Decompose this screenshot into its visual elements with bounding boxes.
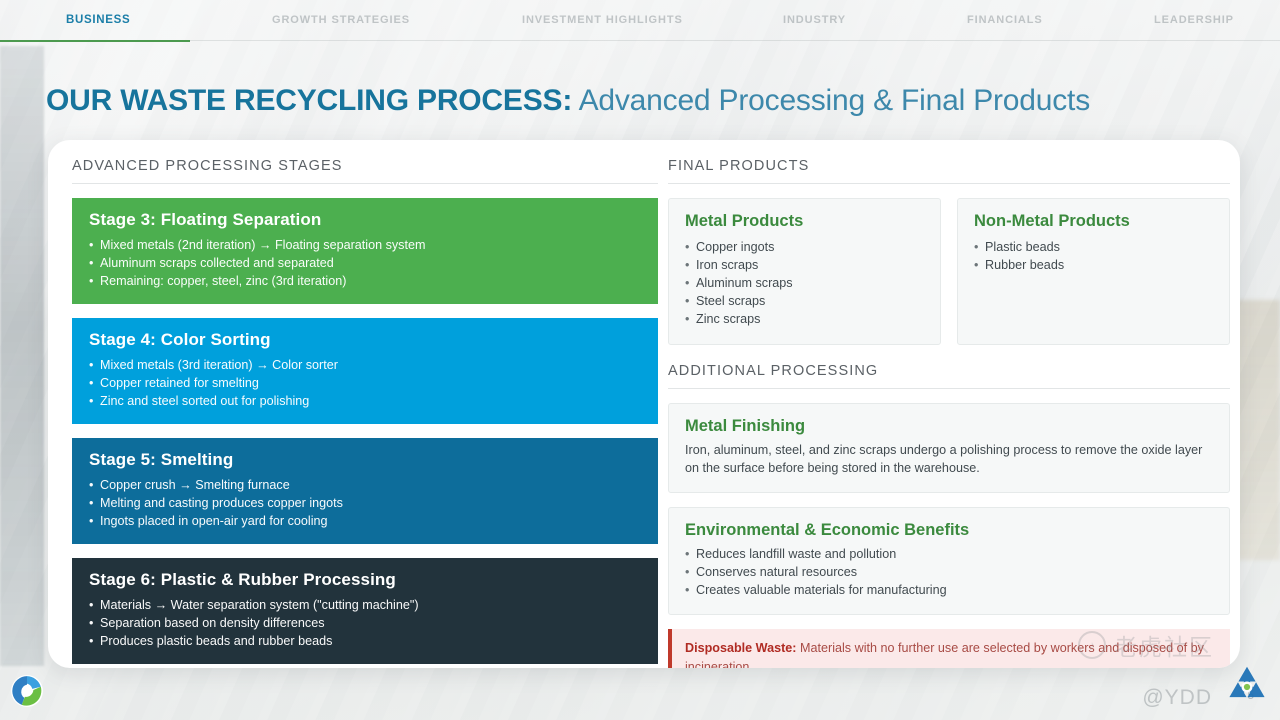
page-title: OUR WASTE RECYCLING PROCESS: Advanced Pr… xyxy=(46,84,1090,118)
slide: BUSINESS GROWTH STRATEGIES INVESTMENT HI… xyxy=(0,0,1280,720)
advanced-processing-column: ADVANCED PROCESSING STAGES Stage 3: Floa… xyxy=(72,158,658,664)
recycle-triangle-icon xyxy=(1222,662,1272,712)
recycle-logo-icon xyxy=(10,674,44,708)
metal-finishing-title: Metal Finishing xyxy=(685,417,1213,436)
list-item: Produces plastic beads and rubber beads xyxy=(89,632,641,650)
list-item: Remaining: copper, steel, zinc (3rd iter… xyxy=(89,272,641,290)
list-item: Ingots placed in open-air yard for cooli… xyxy=(89,512,641,530)
list-item: Conserves natural resources xyxy=(685,563,1213,581)
list-item: Iron scraps xyxy=(685,256,924,274)
section-label-additional-processing: ADDITIONAL PROCESSING xyxy=(668,363,1230,389)
nav-divider xyxy=(190,40,1280,41)
stage-card-6-title: Stage 6: Plastic & Rubber Processing xyxy=(89,570,641,590)
stage-card-5-title: Stage 5: Smelting xyxy=(89,450,641,470)
nav-tab-business[interactable]: BUSINESS xyxy=(66,14,130,26)
product-card-non-metal[interactable]: Non-Metal Products Plastic beads Rubber … xyxy=(957,198,1230,345)
top-navigation: BUSINESS GROWTH STRATEGIES INVESTMENT HI… xyxy=(0,0,1280,42)
background-left-column xyxy=(0,46,44,666)
stage-card-6-bullets: Materials → Water separation system ("cu… xyxy=(89,596,641,650)
disposable-waste-label: Disposable Waste: xyxy=(685,641,797,655)
benefits-title: Environmental & Economic Benefits xyxy=(685,521,1213,540)
stage-card-3-bullets: Mixed metals (2nd iteration) → Floating … xyxy=(89,236,641,290)
stage-card-4-title: Stage 4: Color Sorting xyxy=(89,330,641,350)
section-label-final-products: FINAL PRODUCTS xyxy=(668,158,1230,184)
nav-tab-growth-strategies[interactable]: GROWTH STRATEGIES xyxy=(272,14,410,26)
list-item: Mixed metals (3rd iteration) → Color sor… xyxy=(89,356,641,374)
list-item: Separation based on density differences xyxy=(89,614,641,632)
list-item: Zinc and steel sorted out for polishing xyxy=(89,392,641,410)
section-label-advanced-processing: ADVANCED PROCESSING STAGES xyxy=(72,158,658,184)
nav-tab-leadership[interactable]: LEADERSHIP xyxy=(1154,14,1234,26)
list-item: Rubber beads xyxy=(974,256,1213,274)
list-item: Aluminum scraps collected and separated xyxy=(89,254,641,272)
list-item: Creates valuable materials for manufactu… xyxy=(685,581,1213,599)
list-item: Copper retained for smelting xyxy=(89,374,641,392)
list-item: Copper ingots xyxy=(685,238,924,256)
stage-card-4[interactable]: Stage 4: Color Sorting Mixed metals (3rd… xyxy=(72,318,658,424)
nav-active-underline xyxy=(0,40,190,42)
product-cards-row: Metal Products Copper ingots Iron scraps… xyxy=(668,198,1230,345)
nav-tab-industry[interactable]: INDUSTRY xyxy=(783,14,846,26)
product-card-non-metal-list: Plastic beads Rubber beads xyxy=(974,238,1213,274)
list-item: Steel scraps xyxy=(685,292,924,310)
list-item: Reduces landfill waste and pollution xyxy=(685,545,1213,563)
list-item: Aluminum scraps xyxy=(685,274,924,292)
stage-card-4-bullets: Mixed metals (3rd iteration) → Color sor… xyxy=(89,356,641,410)
stage-card-5-bullets: Copper crush → Smelting furnace Melting … xyxy=(89,476,641,530)
benefits-card[interactable]: Environmental & Economic Benefits Reduce… xyxy=(668,507,1230,615)
stage-card-3[interactable]: Stage 3: Floating Separation Mixed metal… xyxy=(72,198,658,304)
benefits-list: Reduces landfill waste and pollution Con… xyxy=(685,545,1213,599)
product-card-metal[interactable]: Metal Products Copper ingots Iron scraps… xyxy=(668,198,941,345)
nav-tab-investment-highlights[interactable]: INVESTMENT HIGHLIGHTS xyxy=(522,14,683,26)
list-item: Mixed metals (2nd iteration) → Floating … xyxy=(89,236,641,254)
metal-finishing-card[interactable]: Metal Finishing Iron, aluminum, steel, a… xyxy=(668,403,1230,493)
metal-finishing-body: Iron, aluminum, steel, and zinc scraps u… xyxy=(685,441,1213,477)
stage-card-3-title: Stage 3: Floating Separation xyxy=(89,210,641,230)
list-item: Melting and casting produces copper ingo… xyxy=(89,494,641,512)
disposable-waste-alert: Disposable Waste: Materials with no furt… xyxy=(668,629,1230,668)
list-item: Plastic beads xyxy=(974,238,1213,256)
stage-card-6[interactable]: Stage 6: Plastic & Rubber Processing Mat… xyxy=(72,558,658,664)
page-title-strong: OUR WASTE RECYCLING PROCESS: xyxy=(46,84,572,117)
final-products-column: FINAL PRODUCTS Metal Products Copper ing… xyxy=(668,158,1230,668)
list-item: Copper crush → Smelting furnace xyxy=(89,476,641,494)
product-card-metal-list: Copper ingots Iron scraps Aluminum scrap… xyxy=(685,238,924,328)
nav-tab-financials[interactable]: FINANCIALS xyxy=(967,14,1043,26)
list-item: Zinc scraps xyxy=(685,310,924,328)
product-card-metal-title: Metal Products xyxy=(685,212,924,231)
content-panel: ADVANCED PROCESSING STAGES Stage 3: Floa… xyxy=(48,140,1240,668)
page-title-light: Advanced Processing & Final Products xyxy=(572,84,1090,117)
product-card-non-metal-title: Non-Metal Products xyxy=(974,212,1213,231)
list-item: Materials → Water separation system ("cu… xyxy=(89,596,641,614)
stage-card-5[interactable]: Stage 5: Smelting Copper crush → Smeltin… xyxy=(72,438,658,544)
